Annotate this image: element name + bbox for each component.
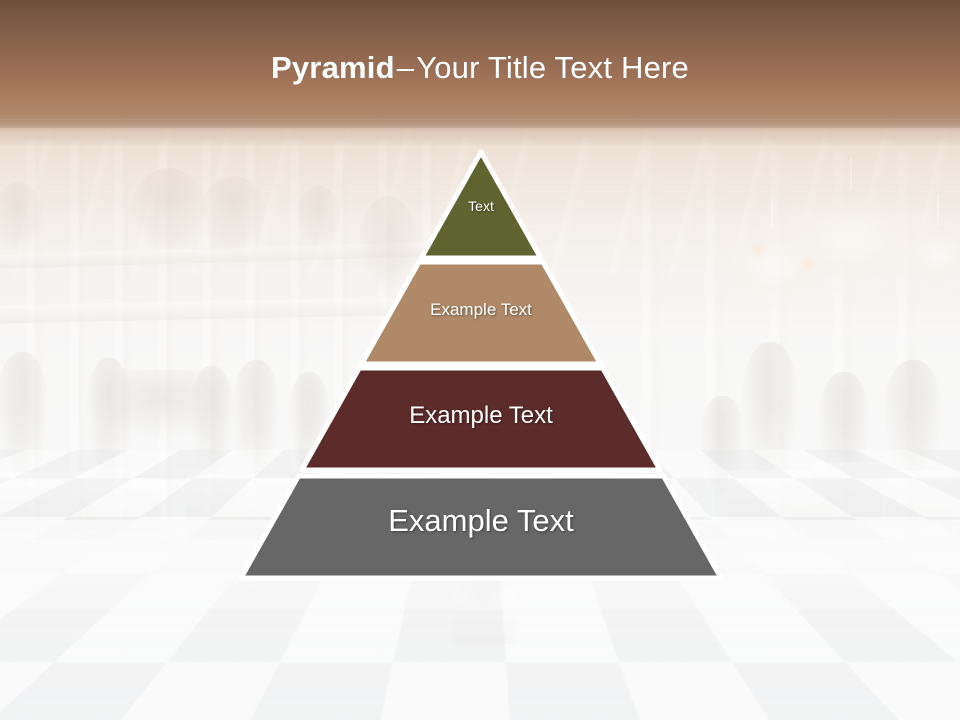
pyramid-tier-top-label[interactable]: Text	[468, 198, 494, 214]
page-title-dash: –	[395, 50, 416, 85]
slide-canvas: Pyramid–Your Title Text Here TextExample…	[0, 0, 960, 720]
page-title: Pyramid–Your Title Text Here	[0, 48, 960, 88]
title-band-fade	[0, 120, 960, 146]
page-title-rest: Your Title Text Here	[416, 50, 689, 85]
pyramid-tier-second-label[interactable]: Example Text	[430, 300, 532, 320]
pyramid-tier-base-label[interactable]: Example Text	[388, 503, 574, 539]
pyramid-tier-third-label[interactable]: Example Text	[409, 402, 553, 430]
page-title-strong: Pyramid	[271, 50, 395, 85]
